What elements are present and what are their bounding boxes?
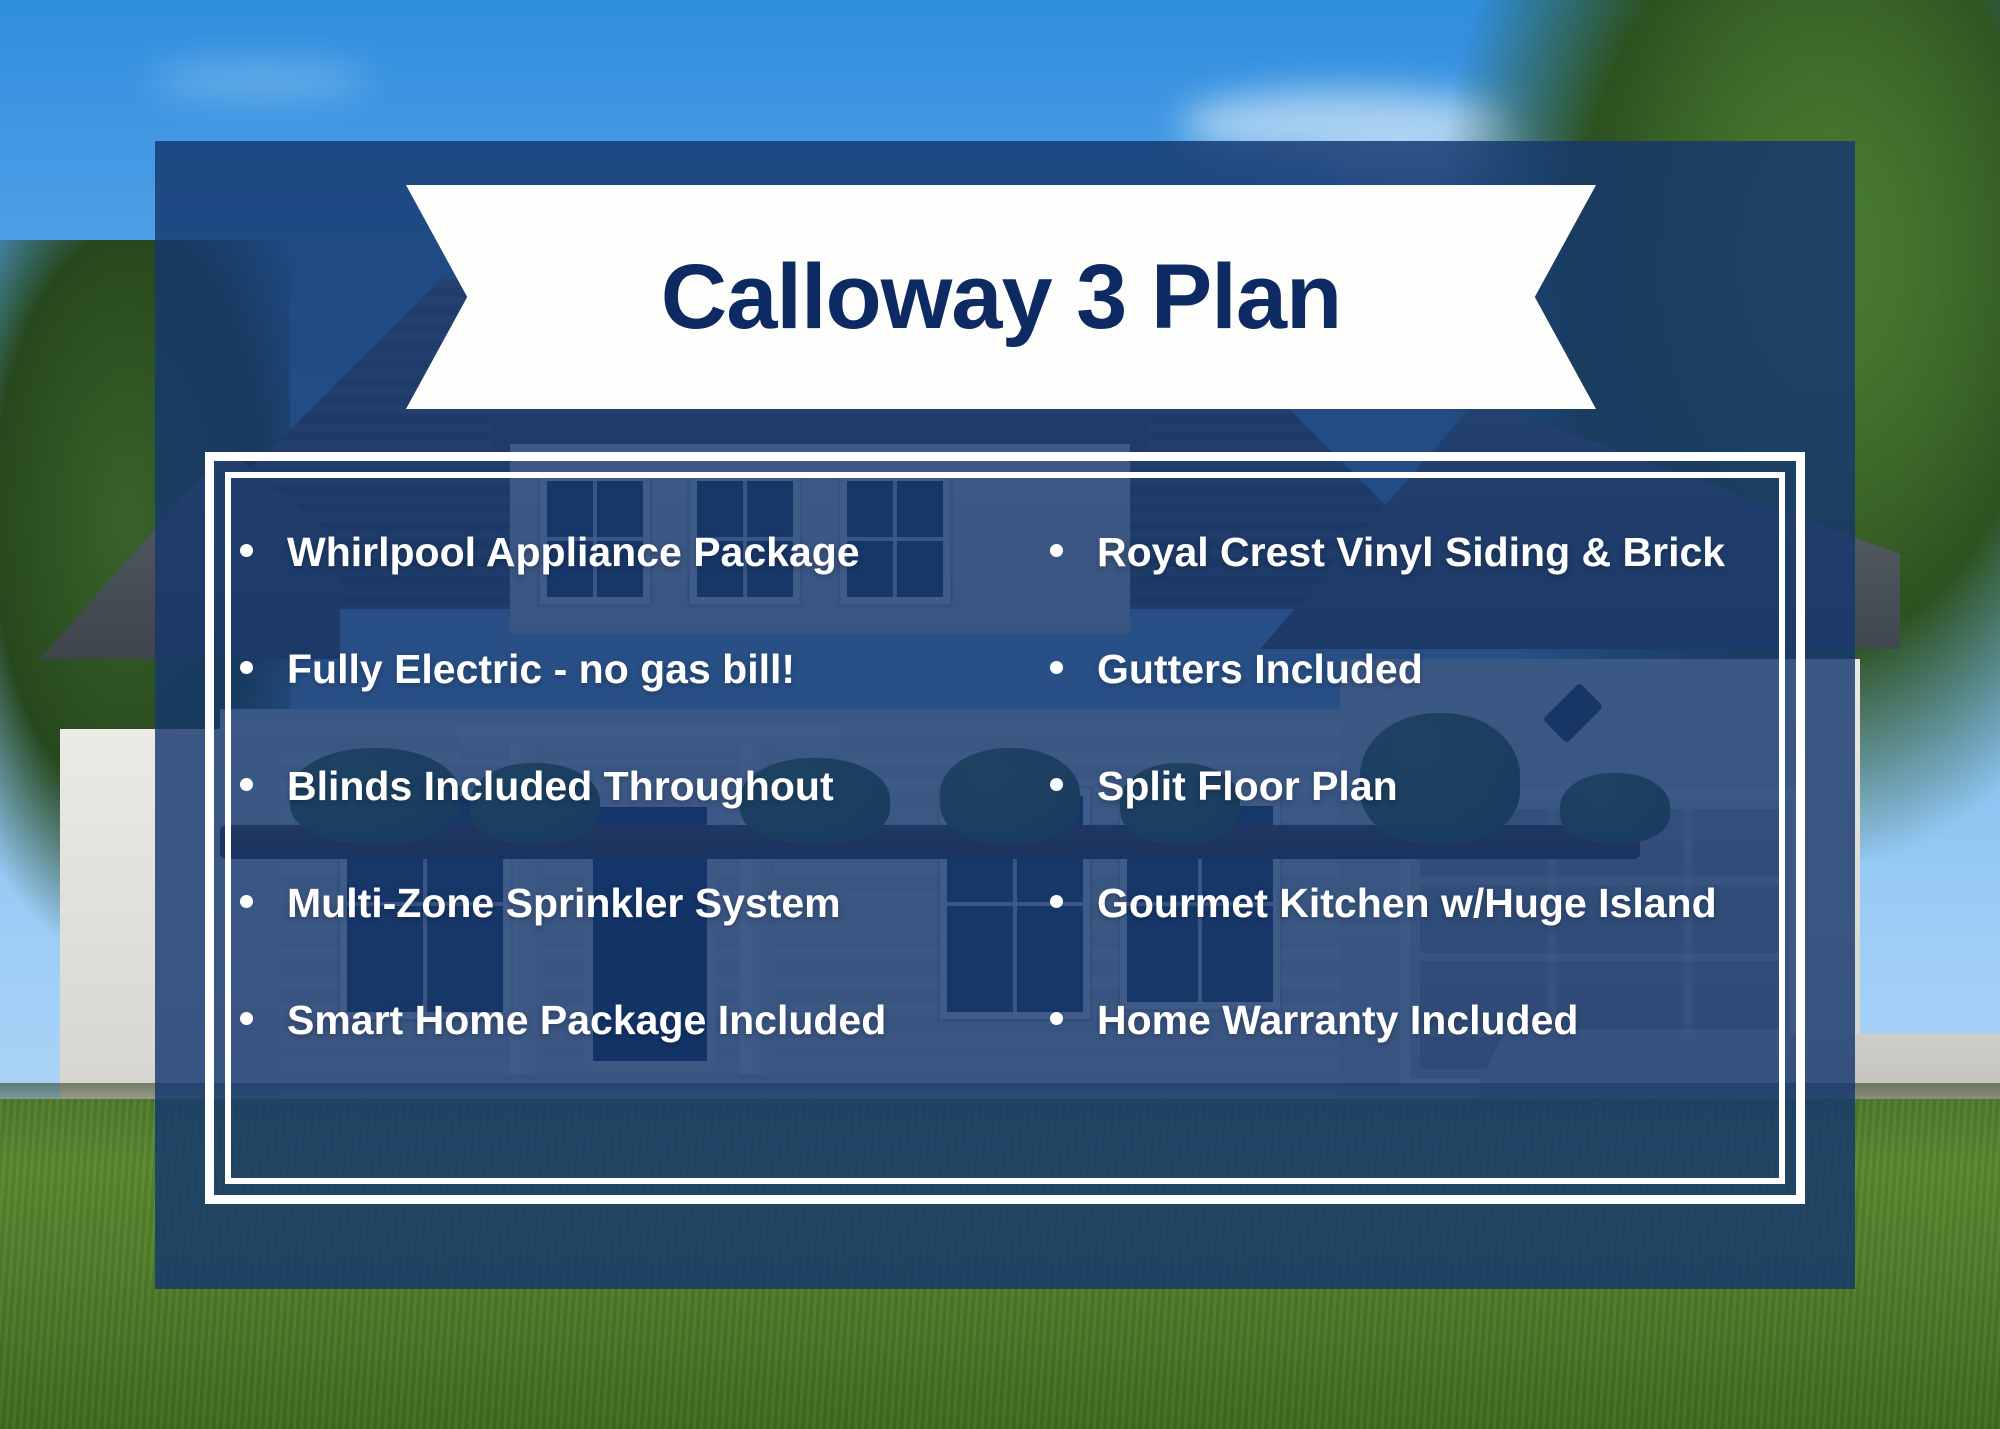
ribbon-tail-left xyxy=(406,185,491,409)
feature-label: Royal Crest Vinyl Siding & Brick xyxy=(1097,530,1725,575)
bullet-dot-icon xyxy=(240,544,253,557)
bullet-dot-icon xyxy=(240,778,253,791)
bullet-dot-icon xyxy=(240,895,253,908)
list-item: Multi-Zone Sprinkler System xyxy=(240,881,1010,998)
feature-column-left: Whirlpool Appliance Package Fully Electr… xyxy=(240,530,1010,1130)
flyer-canvas: Calloway 3 Plan Whirlpool Appliance Pack… xyxy=(0,0,2000,1429)
list-item: Smart Home Package Included xyxy=(240,998,1010,1115)
feature-label: Gourmet Kitchen w/Huge Island xyxy=(1097,881,1717,926)
bullet-dot-icon xyxy=(240,661,253,674)
title-ribbon: Calloway 3 Plan xyxy=(406,185,1596,409)
list-item: Whirlpool Appliance Package xyxy=(240,530,1010,647)
ribbon-body: Calloway 3 Plan xyxy=(490,185,1512,409)
list-item: Split Floor Plan xyxy=(1050,764,1780,881)
list-item: Blinds Included Throughout xyxy=(240,764,1010,881)
bullet-dot-icon xyxy=(1050,661,1063,674)
page-title: Calloway 3 Plan xyxy=(661,251,1341,343)
ribbon-tail-right xyxy=(1511,185,1596,409)
feature-label: Whirlpool Appliance Package xyxy=(287,530,860,575)
feature-label: Blinds Included Throughout xyxy=(287,764,834,809)
list-item: Fully Electric - no gas bill! xyxy=(240,647,1010,764)
feature-columns: Whirlpool Appliance Package Fully Electr… xyxy=(240,530,1780,1130)
feature-label: Home Warranty Included xyxy=(1097,998,1578,1043)
bullet-dot-icon xyxy=(1050,895,1063,908)
bullet-dot-icon xyxy=(240,1012,253,1025)
feature-label: Gutters Included xyxy=(1097,647,1423,692)
feature-label: Smart Home Package Included xyxy=(287,998,886,1043)
feature-label: Multi-Zone Sprinkler System xyxy=(287,881,841,926)
list-item: Gourmet Kitchen w/Huge Island xyxy=(1050,881,1780,998)
bullet-dot-icon xyxy=(1050,778,1063,791)
bullet-dot-icon xyxy=(1050,1012,1063,1025)
feature-column-right: Royal Crest Vinyl Siding & Brick Gutters… xyxy=(1010,530,1780,1130)
cloud xyxy=(150,60,370,100)
list-item: Royal Crest Vinyl Siding & Brick xyxy=(1050,530,1780,647)
feature-label: Fully Electric - no gas bill! xyxy=(287,647,795,692)
list-item: Home Warranty Included xyxy=(1050,998,1780,1115)
list-item: Gutters Included xyxy=(1050,647,1780,764)
feature-label: Split Floor Plan xyxy=(1097,764,1398,809)
bullet-dot-icon xyxy=(1050,544,1063,557)
